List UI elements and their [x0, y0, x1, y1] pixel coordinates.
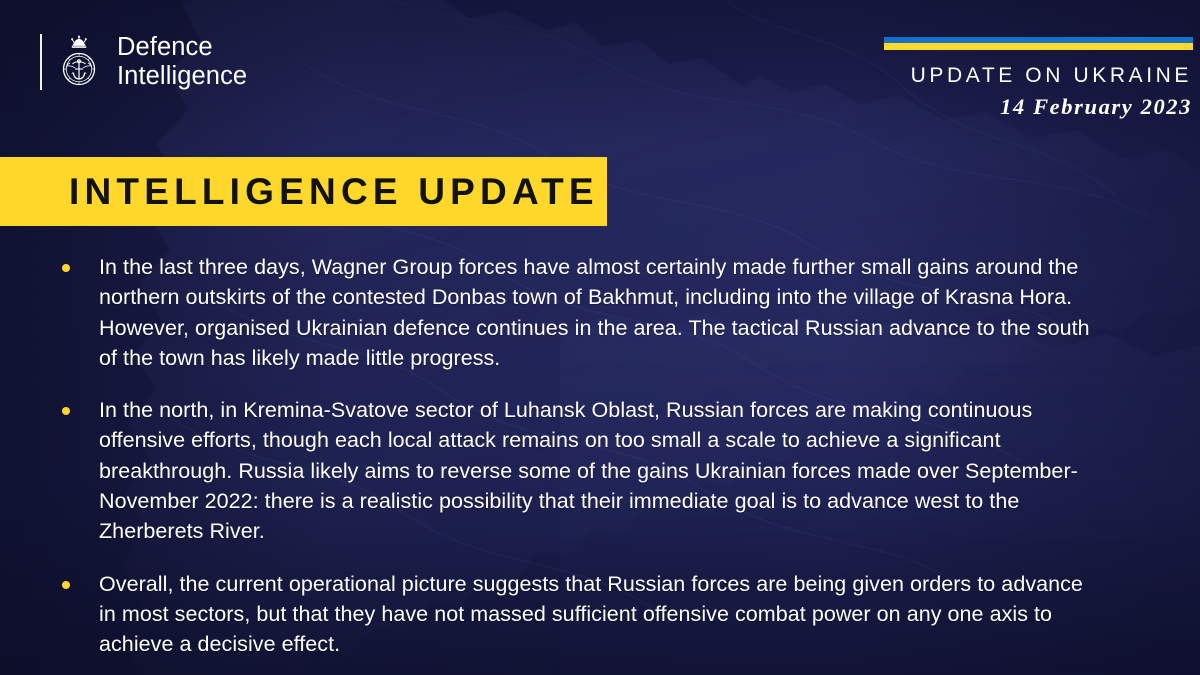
- bullet-text: In the last three days, Wagner Group for…: [99, 252, 1092, 373]
- list-item: In the north, in Kremina-Svatove sector …: [62, 395, 1092, 546]
- brand-line-2: Intelligence: [117, 62, 247, 91]
- brand-lockup: Defence Intelligence: [40, 31, 247, 93]
- bullet-dot-icon: [62, 581, 70, 589]
- update-date: 14 February 2023: [772, 92, 1192, 121]
- intelligence-update-slide: Defence Intelligence UPDATE ON UKRAINE 1…: [0, 0, 1200, 675]
- ukraine-flag-bar-icon: [884, 37, 1193, 50]
- list-item: In the last three days, Wagner Group for…: [62, 252, 1092, 373]
- banner-label: INTELLIGENCE UPDATE: [69, 171, 599, 213]
- brand-divider: [40, 34, 42, 90]
- intelligence-update-banner: INTELLIGENCE UPDATE: [0, 157, 607, 226]
- list-item: Overall, the current operational picture…: [62, 569, 1092, 660]
- brand-line-1: Defence: [117, 33, 247, 62]
- brand-name: Defence Intelligence: [117, 33, 247, 90]
- mod-crest-icon: [56, 33, 102, 91]
- bullet-text: Overall, the current operational picture…: [99, 569, 1092, 660]
- bullet-dot-icon: [62, 407, 70, 415]
- update-title: UPDATE ON UKRAINE: [772, 63, 1192, 89]
- bullet-text: In the north, in Kremina-Svatove sector …: [99, 395, 1092, 546]
- bullet-list: In the last three days, Wagner Group for…: [62, 252, 1092, 660]
- bullet-dot-icon: [62, 264, 70, 272]
- update-header: UPDATE ON UKRAINE 14 February 2023: [772, 63, 1192, 122]
- flag-yellow-stripe: [884, 43, 1193, 50]
